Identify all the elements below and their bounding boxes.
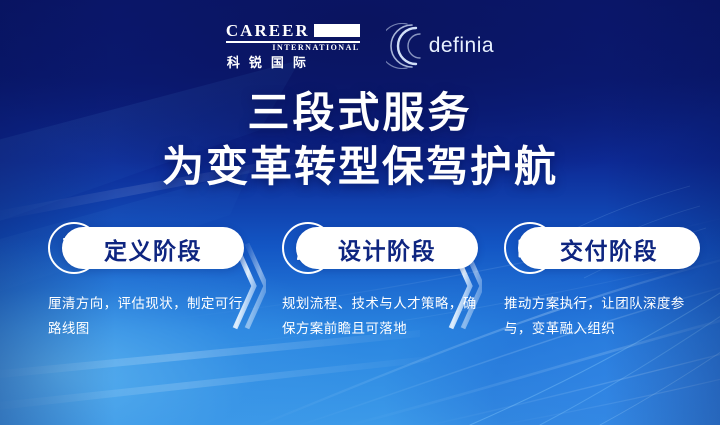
stage-card-design[interactable]: 设计阶段: [268, 222, 483, 342]
ruler-pencil-icon: [294, 234, 323, 263]
career-wordmark-row: CAREER: [226, 22, 360, 39]
stage-icon-circle: [504, 222, 556, 274]
stage-card-header: 定义阶段: [34, 222, 249, 274]
stage-icon-circle: [282, 222, 334, 274]
logo-row: CAREER INTERNATIONAL 科锐国际 definia: [0, 22, 720, 69]
stage-label-design: 设计阶段: [338, 232, 436, 266]
stage-label-deliver: 交付阶段: [560, 232, 658, 266]
definia-logo: definia: [386, 23, 494, 69]
stage-cards: 定义阶段 厘清方向，评估现状，制定可行路线图 设计阶段: [0, 222, 720, 402]
stage-label-define: 定义阶段: [104, 232, 202, 266]
career-logo-block: [314, 24, 360, 37]
career-subtitle: INTERNATIONAL: [272, 44, 359, 52]
headline-line-1: 三段式服务: [0, 88, 720, 138]
stage-description-define: 厘清方向，评估现状，制定可行路线图: [34, 292, 244, 342]
stage-card-header: 交付阶段: [490, 222, 705, 274]
definia-wordmark: definia: [429, 34, 494, 58]
stage-card-header: 设计阶段: [268, 222, 483, 274]
stage-description-design: 规划流程、技术与人才策略，确保方案前瞻且可落地: [268, 292, 478, 342]
career-subtitle-row: INTERNATIONAL: [226, 44, 360, 52]
folder-upload-icon: [516, 234, 544, 262]
stage-icon-circle: [48, 222, 100, 274]
stage-card-deliver[interactable]: 交付阶段 推动方案执行，让团队深度参与，变革融入组织: [490, 222, 705, 342]
headline-line-2: 为变革转型保驾护航: [0, 142, 720, 192]
promotional-banner: CAREER INTERNATIONAL 科锐国际 definia 三段: [0, 0, 720, 425]
definia-arcs-icon: [386, 23, 434, 69]
funnel-icon: [60, 234, 88, 262]
stage-description-deliver: 推动方案执行，让团队深度参与，变革融入组织: [490, 292, 709, 342]
headline: 三段式服务 为变革转型保驾护航: [0, 88, 720, 191]
career-chinese-name: 科锐国际: [226, 56, 315, 69]
career-international-logo: CAREER INTERNATIONAL 科锐国际: [226, 22, 360, 69]
career-wordmark: CAREER: [226, 22, 310, 39]
stage-card-define[interactable]: 定义阶段 厘清方向，评估现状，制定可行路线图: [34, 222, 249, 342]
